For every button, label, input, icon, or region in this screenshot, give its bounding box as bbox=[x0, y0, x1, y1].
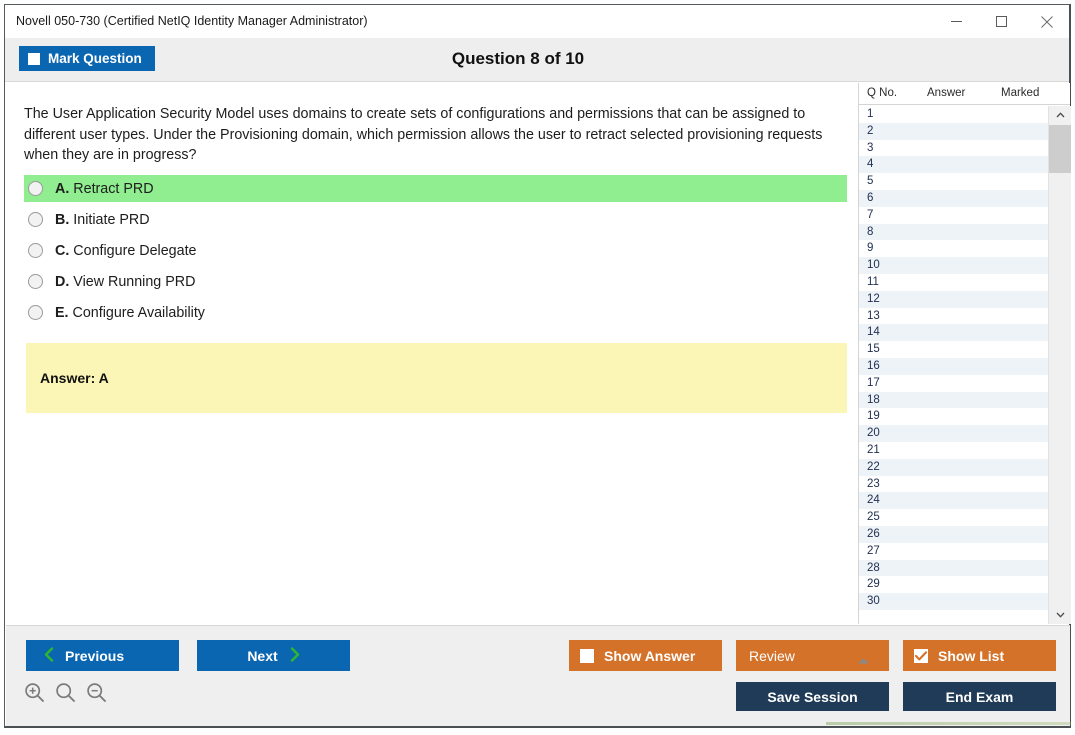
page-title: Question 8 of 10 bbox=[5, 49, 1031, 69]
question-list-row[interactable]: 3 bbox=[859, 140, 1048, 157]
chevron-right-icon bbox=[290, 647, 300, 665]
question-list-row[interactable]: 29 bbox=[859, 576, 1048, 593]
zoom-in-icon[interactable] bbox=[24, 682, 45, 708]
zoom-controls bbox=[24, 682, 107, 708]
question-list-row[interactable]: 19 bbox=[859, 408, 1048, 425]
answer-option-label: E. Configure Availability bbox=[55, 305, 205, 321]
answer-option-b[interactable]: B. Initiate PRD bbox=[24, 206, 847, 233]
question-list-row[interactable]: 14 bbox=[859, 324, 1048, 341]
window-frame: Novell 050-730 (Certified NetIQ Identity… bbox=[4, 4, 1071, 728]
answer-option-c[interactable]: C. Configure Delegate bbox=[24, 237, 847, 264]
next-label: Next bbox=[247, 648, 277, 664]
radio-icon[interactable] bbox=[28, 181, 43, 196]
question-list-row[interactable]: 28 bbox=[859, 560, 1048, 577]
review-dropdown-button[interactable]: Review bbox=[736, 640, 889, 671]
question-list-row[interactable]: 7 bbox=[859, 207, 1048, 224]
answer-option-label: B. Initiate PRD bbox=[55, 212, 150, 228]
question-list-row[interactable]: 5 bbox=[859, 173, 1048, 190]
review-label: Review bbox=[749, 648, 795, 664]
question-list-header: Q No. Answer Marked bbox=[859, 83, 1070, 105]
question-list-row[interactable]: 27 bbox=[859, 543, 1048, 560]
answer-option-e[interactable]: E. Configure Availability bbox=[24, 299, 847, 326]
close-icon[interactable] bbox=[1024, 5, 1069, 38]
scroll-up-arrow-icon[interactable] bbox=[1049, 106, 1071, 124]
question-list-row[interactable]: 16 bbox=[859, 358, 1048, 375]
question-list-row[interactable]: 21 bbox=[859, 442, 1048, 459]
exam-application-window: Novell 050-730 (Certified NetIQ Identity… bbox=[0, 0, 1075, 735]
question-list-row[interactable]: 20 bbox=[859, 425, 1048, 442]
save-session-label: Save Session bbox=[767, 689, 857, 705]
window-controls bbox=[934, 5, 1069, 38]
question-list-row[interactable]: 9 bbox=[859, 240, 1048, 257]
question-list-row[interactable]: 23 bbox=[859, 476, 1048, 493]
question-list-row[interactable]: 15 bbox=[859, 341, 1048, 358]
next-button[interactable]: Next bbox=[197, 640, 350, 671]
radio-icon[interactable] bbox=[28, 212, 43, 227]
window-title: Novell 050-730 (Certified NetIQ Identity… bbox=[16, 14, 368, 28]
show-answer-button[interactable]: Show Answer bbox=[569, 640, 722, 671]
question-list-panel: Q No. Answer Marked 12345678910111213141… bbox=[858, 83, 1070, 624]
show-list-button[interactable]: Show List bbox=[903, 640, 1056, 671]
answer-option-d[interactable]: D. View Running PRD bbox=[24, 268, 847, 295]
answer-reveal-box: Answer: A bbox=[26, 343, 847, 413]
question-rows-container: 1234567891011121314151617181920212223242… bbox=[859, 106, 1048, 610]
answer-option-label: C. Configure Delegate bbox=[55, 243, 197, 259]
caret-up-icon bbox=[857, 652, 870, 668]
answer-option-label: A. Retract PRD bbox=[55, 181, 154, 197]
zoom-out-icon[interactable] bbox=[86, 682, 107, 708]
question-list-row[interactable]: 2 bbox=[859, 123, 1048, 140]
status-tint-strip bbox=[826, 722, 1071, 725]
end-exam-button[interactable]: End Exam bbox=[903, 682, 1056, 711]
maximize-icon[interactable] bbox=[979, 5, 1024, 38]
question-list-row[interactable]: 22 bbox=[859, 459, 1048, 476]
radio-icon[interactable] bbox=[28, 274, 43, 289]
end-exam-label: End Exam bbox=[946, 689, 1014, 705]
question-list-row[interactable]: 8 bbox=[859, 224, 1048, 241]
question-list-row[interactable]: 10 bbox=[859, 257, 1048, 274]
question-list-row[interactable]: 25 bbox=[859, 509, 1048, 526]
answer-option-label: D. View Running PRD bbox=[55, 274, 195, 290]
minimize-icon[interactable] bbox=[934, 5, 979, 38]
answer-text: Answer: A bbox=[40, 370, 109, 386]
question-list-row[interactable]: 1 bbox=[859, 106, 1048, 123]
question-list-row[interactable]: 17 bbox=[859, 375, 1048, 392]
show-list-checkbox-icon[interactable] bbox=[914, 649, 928, 663]
scroll-down-arrow-icon[interactable] bbox=[1049, 606, 1071, 624]
question-text: The User Application Security Model uses… bbox=[24, 104, 846, 166]
question-list-row[interactable]: 18 bbox=[859, 392, 1048, 409]
bottom-toolbar: Previous Next Show Answer Review bbox=[6, 625, 1070, 726]
column-header-answer: Answer bbox=[927, 87, 965, 99]
question-list-row[interactable]: 6 bbox=[859, 190, 1048, 207]
column-header-marked: Marked bbox=[1001, 87, 1039, 99]
scrollbar-thumb[interactable] bbox=[1049, 125, 1071, 173]
show-answer-checkbox-icon[interactable] bbox=[580, 649, 594, 663]
question-content-pane: The User Application Security Model uses… bbox=[6, 83, 857, 624]
previous-label: Previous bbox=[65, 648, 124, 664]
question-list-row[interactable]: 13 bbox=[859, 308, 1048, 325]
answer-option-a[interactable]: A. Retract PRD bbox=[24, 175, 847, 202]
question-list-scrollbar[interactable] bbox=[1048, 106, 1071, 624]
question-list-row[interactable]: 12 bbox=[859, 291, 1048, 308]
question-list-body: 1234567891011121314151617181920212223242… bbox=[859, 106, 1071, 624]
previous-button[interactable]: Previous bbox=[26, 640, 179, 671]
question-list-row[interactable]: 30 bbox=[859, 593, 1048, 610]
zoom-reset-icon[interactable] bbox=[55, 682, 76, 708]
radio-icon[interactable] bbox=[28, 305, 43, 320]
chevron-left-icon bbox=[44, 647, 54, 665]
radio-icon[interactable] bbox=[28, 243, 43, 258]
show-list-label: Show List bbox=[938, 648, 1004, 664]
question-list-row[interactable]: 4 bbox=[859, 156, 1048, 173]
question-list-row[interactable]: 11 bbox=[859, 274, 1048, 291]
question-list-row[interactable]: 26 bbox=[859, 526, 1048, 543]
column-header-qno: Q No. bbox=[867, 87, 897, 99]
question-list-row[interactable]: 24 bbox=[859, 492, 1048, 509]
title-bar: Novell 050-730 (Certified NetIQ Identity… bbox=[5, 5, 1069, 38]
question-header-bar: Mark Question Question 8 of 10 bbox=[5, 38, 1069, 82]
show-answer-label: Show Answer bbox=[604, 648, 695, 664]
save-session-button[interactable]: Save Session bbox=[736, 682, 889, 711]
answer-options-list: A. Retract PRD B. Initiate PRD C. Config… bbox=[24, 175, 847, 330]
